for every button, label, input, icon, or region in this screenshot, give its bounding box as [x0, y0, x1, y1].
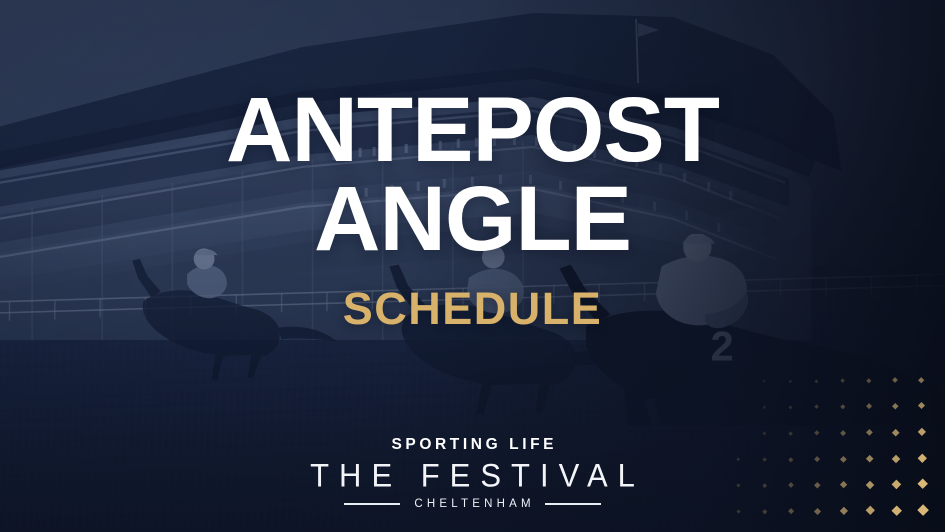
rule-left — [344, 503, 400, 505]
sporting-life-wordmark: SPORTING LIFE — [0, 437, 945, 453]
headline-block: ANTEPOST ANGLE SCHEDULE — [0, 86, 945, 331]
headline-line-2: ANGLE — [0, 175, 945, 264]
headline-line-1: ANTEPOST — [0, 86, 945, 175]
subhead-schedule: SCHEDULE — [0, 286, 945, 331]
cheltenham-label: CHELTENHAM — [410, 499, 535, 511]
rule-right — [545, 503, 601, 505]
antepost-angle-schedule-banner: 2 — [0, 0, 945, 532]
festival-logo-lockup: SPORTING LIFE THE FESTIVAL CHELTENHAM — [0, 437, 945, 510]
the-festival-wordmark: THE FESTIVAL — [0, 459, 945, 491]
cheltenham-row: CHELTENHAM — [0, 499, 945, 511]
